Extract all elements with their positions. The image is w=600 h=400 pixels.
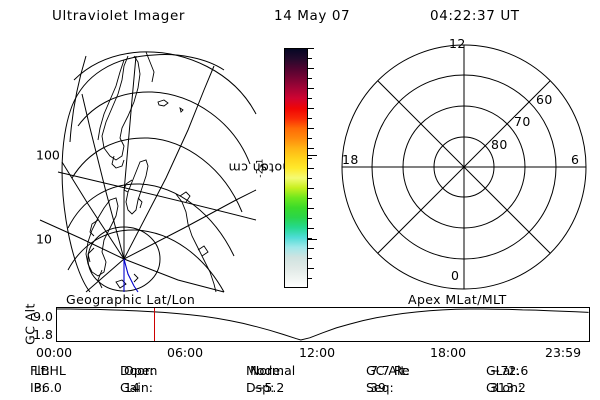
- status-row-1: Flt: LBHL Door: Open Mode: Normal GC Alt…: [30, 363, 590, 380]
- status-seq-value: 39: [370, 380, 386, 395]
- colorbar[interactable]: [284, 48, 308, 288]
- status-mode: Mode: Normal: [246, 363, 250, 378]
- colorbar-minor-tick: [308, 198, 312, 199]
- colorbar-minor-tick: [308, 258, 312, 259]
- mlt-label-18: 18: [342, 152, 359, 167]
- status-mode-value: Normal: [250, 363, 295, 378]
- status-dsp-value: −5.2: [254, 380, 284, 395]
- colorbar-minor-tick: [308, 48, 314, 49]
- geographic-graticule: [40, 52, 256, 292]
- colorbar-minor-tick: [308, 188, 314, 189]
- colorbar-minor-tick: [308, 268, 314, 269]
- status-glat-value: −72.6: [490, 363, 528, 378]
- time-tick-1: 06:00: [167, 345, 203, 360]
- mlt-label-12: 12: [449, 36, 466, 51]
- mlat-label-70: 70: [514, 114, 531, 129]
- colorbar-minor-tick: [308, 228, 314, 229]
- status-glon-value: 313.2: [490, 380, 526, 395]
- colorbar-minor-tick: [308, 138, 312, 139]
- time-tick-2: 12:00: [299, 345, 335, 360]
- magnetic-panel-caption: Apex MLat/MLT: [408, 292, 507, 307]
- colorbar-minor-tick: [308, 88, 314, 89]
- colorbar-minor-tick: [308, 168, 314, 169]
- colorbar-minor-tick: [308, 218, 312, 219]
- colorbar-minor-tick: [308, 278, 312, 279]
- observation-time: 04:22:37 UT: [430, 8, 520, 24]
- mlt-label-6: 6: [571, 152, 579, 167]
- colorbar-axis-label: photon cm-2s-1: [255, 48, 271, 288]
- mlat-label-60: 60: [536, 92, 553, 107]
- colorbar-minor-tick: [308, 98, 312, 99]
- status-gain-value: 14: [124, 380, 140, 395]
- status-door-value: Open: [124, 363, 157, 378]
- altitude-curve-svg: [57, 308, 589, 341]
- geographic-map-svg: [28, 42, 256, 292]
- altitude-tick-high: 9.0: [25, 309, 53, 324]
- altitude-tick-low: 1.8: [25, 327, 53, 342]
- mlt-label-0: 0: [451, 268, 459, 283]
- altitude-timeseries-plot[interactable]: [56, 307, 590, 342]
- colorbar-minor-tick: [308, 148, 314, 149]
- status-ip-value: 36.0: [34, 380, 62, 395]
- colorbar-minor-tick: [308, 108, 314, 109]
- colorbar-minor-tick: [308, 178, 312, 179]
- colorbar-minor-tick: [308, 128, 314, 129]
- geographic-panel-caption: Geographic Lat/Lon: [66, 292, 195, 307]
- coastlines: [86, 52, 216, 292]
- status-glon: GLon: 313.2: [486, 380, 490, 395]
- polar-spokes: [342, 45, 586, 289]
- colorbar-minor-tick: [308, 78, 312, 79]
- colorbar-major-tick: [308, 155, 317, 156]
- colorbar-gradient: [284, 48, 308, 288]
- status-flt: Flt: LBHL: [30, 363, 34, 378]
- status-block: Flt: LBHL Door: Open Mode: Normal GC Alt…: [30, 363, 590, 399]
- mlat-label-80: 80: [491, 137, 508, 152]
- status-gain: Gain: 14: [120, 380, 124, 395]
- instrument-title: Ultraviolet Imager: [52, 8, 185, 24]
- status-ip: IP: 36.0: [30, 380, 34, 395]
- colorbar-minor-tick: [308, 58, 312, 59]
- status-dsp: Dsp: −5.2: [246, 380, 254, 395]
- colorbar-minor-tick: [308, 158, 312, 159]
- colorbar-tick-label-0: 100: [36, 147, 60, 162]
- colorbar-ticks: [308, 48, 317, 288]
- geographic-map-panel[interactable]: [28, 42, 256, 292]
- colorbar-minor-tick: [308, 248, 314, 249]
- colorbar-minor-tick: [308, 68, 314, 69]
- status-gc-alt-value: 7.7 Re: [370, 363, 410, 378]
- status-glat: GLat: −72.6: [486, 363, 490, 378]
- status-row-2: IP: 36.0 Gain: 14 Dsp: −5.2 Seq: 39 GLon…: [30, 380, 590, 397]
- colorbar-major-tick: [308, 239, 317, 240]
- header-bar: Ultraviolet Imager 14 May 07 04:22:37 UT: [0, 8, 600, 30]
- time-tick-4: 23:59: [545, 345, 581, 360]
- status-seq: Seq: 39: [366, 380, 370, 395]
- status-door: Door: Open: [120, 363, 124, 378]
- time-tick-3: 18:00: [430, 345, 466, 360]
- time-axis-tick-labels: 00:00 06:00 12:00 18:00 23:59: [0, 345, 600, 361]
- colorbar-minor-tick: [308, 208, 314, 209]
- status-gc-alt: GC Alt: 7.7 Re: [366, 363, 370, 378]
- magnetic-polar-dial-panel[interactable]: 12 6 0 18 60 70 80: [336, 42, 592, 292]
- status-flt-value: LBHL: [34, 363, 66, 378]
- polar-dial-svg: [336, 42, 592, 292]
- colorbar-minor-tick: [308, 118, 312, 119]
- colorbar-label-mid: s: [260, 161, 267, 176]
- time-tick-0: 00:00: [36, 345, 72, 360]
- colorbar-tick-label-1: 10: [36, 231, 52, 246]
- current-time-marker: [154, 308, 155, 341]
- altitude-curve: [57, 309, 589, 340]
- observation-date: 14 May 07: [274, 8, 350, 24]
